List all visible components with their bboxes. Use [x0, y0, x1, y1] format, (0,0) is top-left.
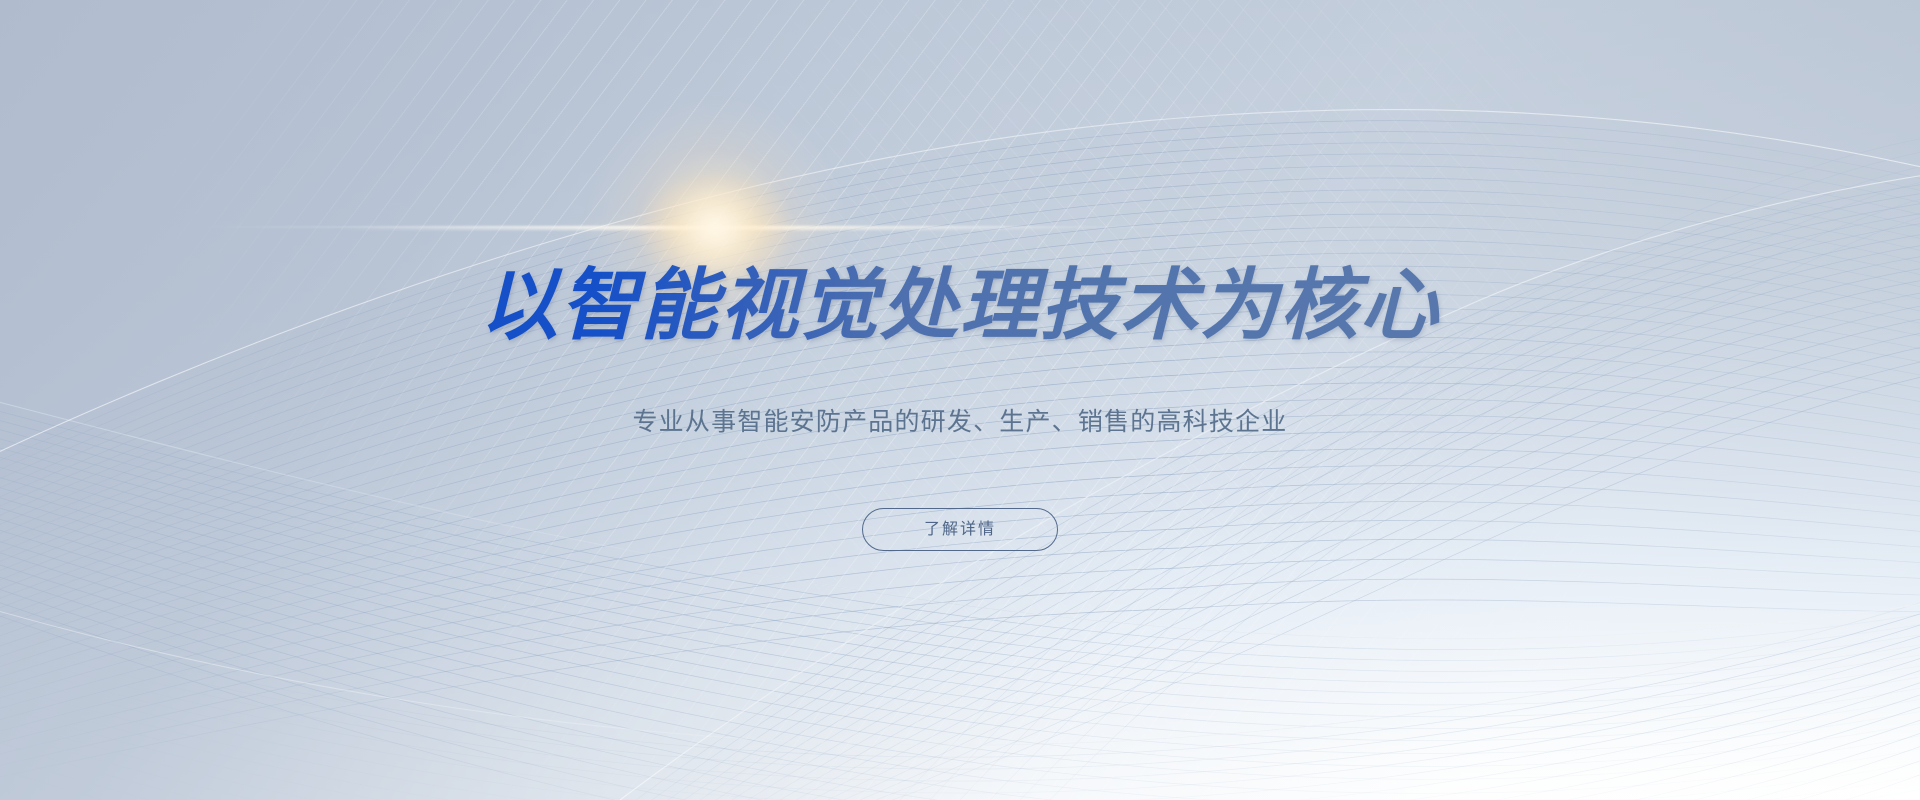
- hero-banner: 以智能视觉处理技术为核心 专业从事智能安防产品的研发、生产、销售的高科技企业 了…: [0, 0, 1920, 800]
- hero-headline: 以智能视觉处理技术为核心: [0, 262, 1920, 348]
- learn-more-button[interactable]: 了解详情: [862, 508, 1058, 551]
- hero-content: 以智能视觉处理技术为核心 专业从事智能安防产品的研发、生产、销售的高科技企业 了…: [0, 0, 1920, 800]
- hero-subtitle: 专业从事智能安防产品的研发、生产、销售的高科技企业: [0, 405, 1920, 439]
- hero-cta-wrapper: 了解详情: [0, 508, 1920, 551]
